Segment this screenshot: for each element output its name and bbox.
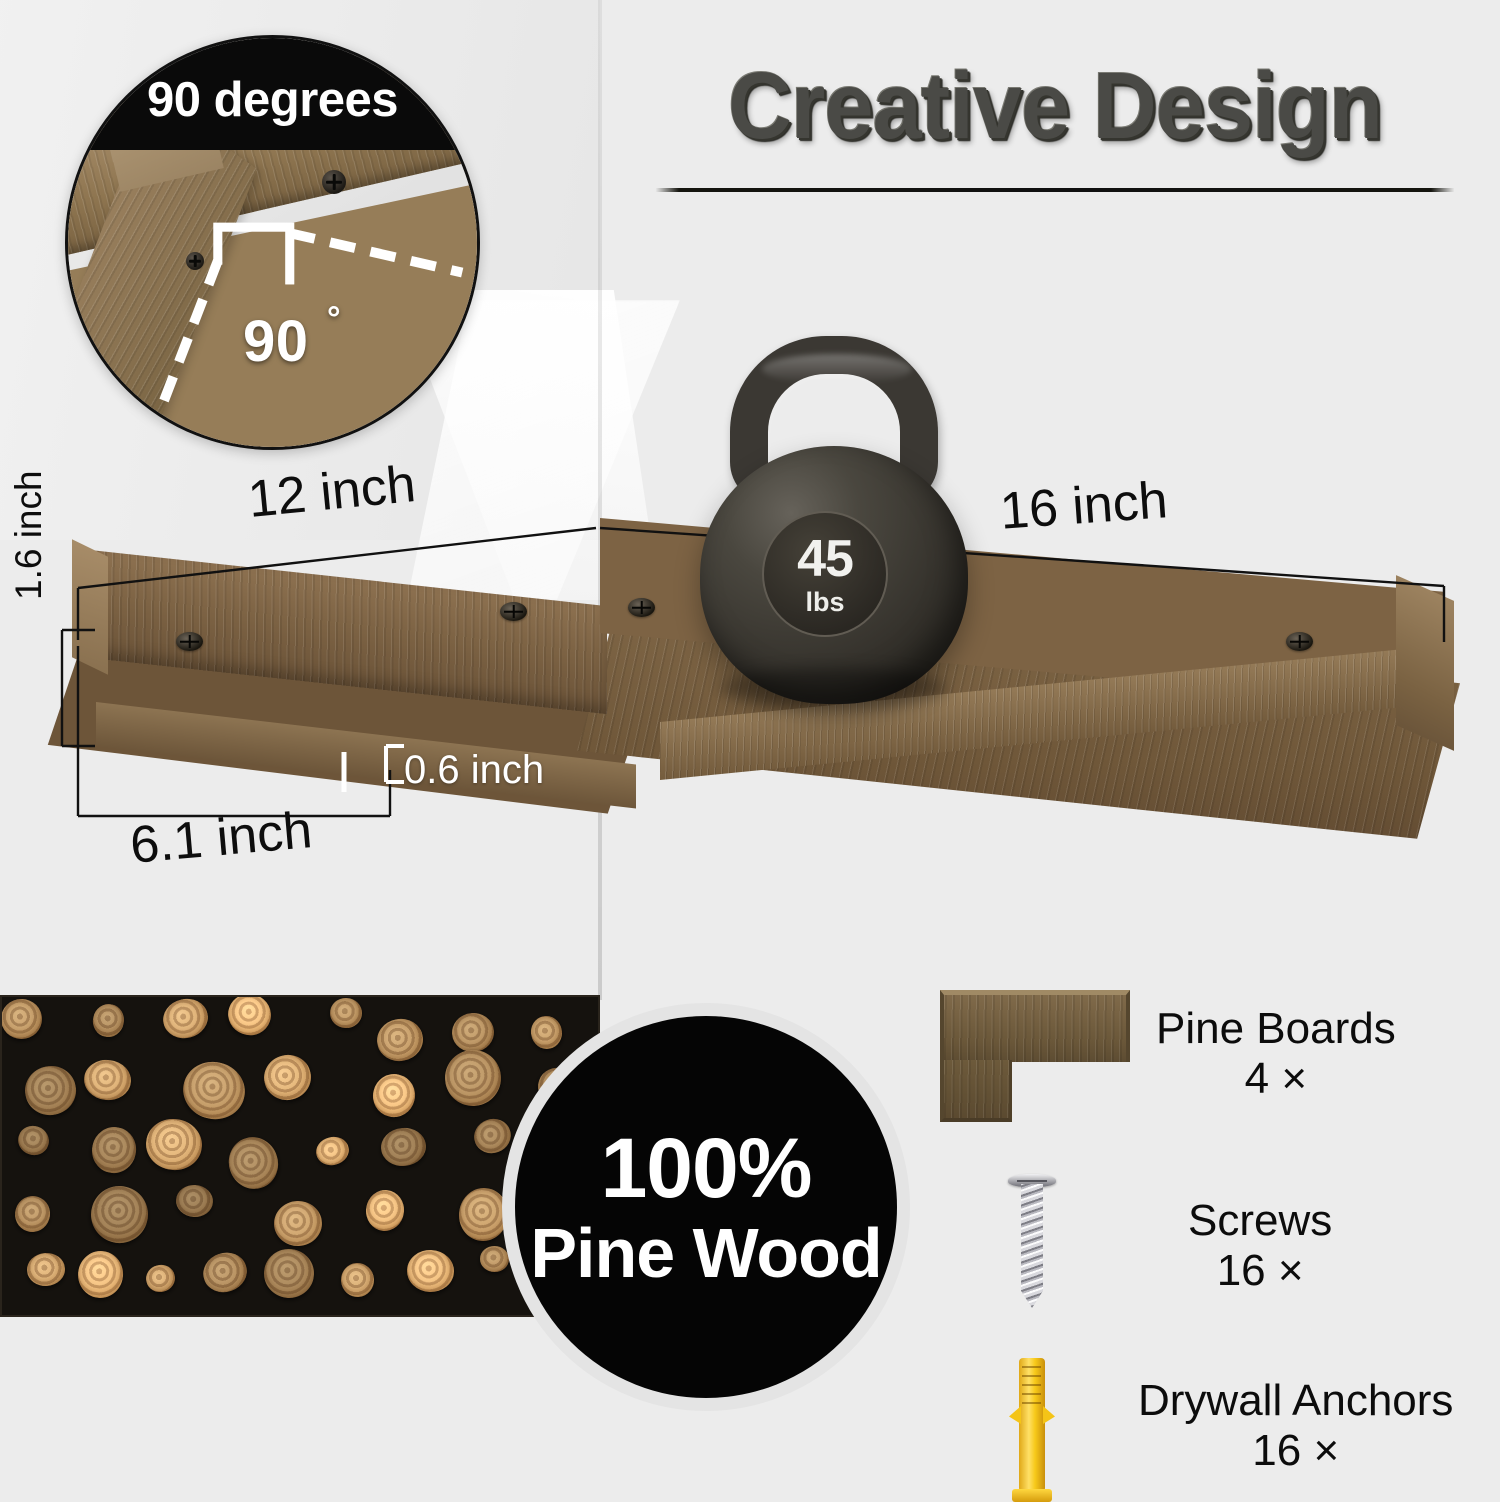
log-cross-section — [529, 1013, 565, 1051]
log-cross-section — [143, 1262, 177, 1295]
log-cross-section — [443, 1047, 504, 1108]
log-cross-section — [450, 1011, 496, 1054]
material-badge: 100% Pine Wood — [502, 1003, 910, 1411]
log-cross-section — [198, 1247, 252, 1298]
log-cross-section — [313, 1133, 352, 1168]
log-cross-section — [379, 1126, 427, 1168]
log-cross-section — [90, 1001, 126, 1039]
detail-zoom-circle: 90 ° 90 degrees — [65, 35, 480, 450]
dimension-label-thickness: 0.6 inch — [404, 748, 544, 793]
log-cross-section — [143, 1115, 205, 1173]
part-name: Screws — [1188, 1196, 1332, 1245]
log-cross-section — [363, 1188, 406, 1234]
pine-board-icon — [940, 990, 1130, 1120]
screw-icon — [962, 1172, 1102, 1322]
log-cross-section — [87, 1123, 139, 1177]
detail-banner: 90 degrees — [68, 38, 477, 150]
log-cross-section — [330, 997, 363, 1028]
log-cross-section — [82, 1057, 133, 1102]
kettlebell-weight-unit: lbs — [805, 589, 844, 616]
log-cross-section — [21, 1062, 81, 1119]
log-cross-section — [374, 1015, 426, 1064]
log-cross-section — [406, 1249, 455, 1293]
log-cross-section — [177, 1055, 250, 1125]
parts-list-item: Drywall Anchors 16 × — [940, 1352, 1500, 1502]
kettlebell-handle-highlight — [762, 354, 912, 384]
log-cross-section — [75, 1247, 127, 1301]
log-cross-section — [259, 1050, 316, 1105]
log-cross-section — [159, 995, 212, 1043]
log-cross-section — [85, 1180, 155, 1250]
kettlebell-weight-emblem: 45 lbs — [762, 511, 888, 637]
parts-list-item: Screws 16 × — [940, 1172, 1500, 1322]
part-quantity: 16 × — [1188, 1245, 1332, 1298]
kettlebell-weight-value: 45 — [797, 533, 853, 585]
log-cross-section — [11, 1192, 55, 1237]
degree-symbol-icon: ° — [327, 300, 341, 339]
log-cross-section — [14, 1122, 53, 1160]
log-cross-section — [1, 999, 42, 1040]
material-badge-material: Pine Wood — [530, 1217, 881, 1289]
part-quantity: 4 × — [1156, 1053, 1396, 1106]
log-cross-section — [261, 1246, 317, 1300]
log-cross-section — [25, 1252, 65, 1287]
detail-banner-label: 90 degrees — [147, 72, 398, 128]
page-title: Creative Design — [669, 58, 1441, 155]
drywall-anchor-icon — [962, 1352, 1102, 1502]
log-cross-section — [480, 1245, 510, 1271]
log-cross-section — [368, 1070, 419, 1122]
kettlebell-weight-prop: 45 lbs — [686, 336, 982, 708]
header: Creative Design — [640, 58, 1470, 192]
part-name: Drywall Anchors — [1138, 1376, 1453, 1425]
dimension-label-height: 1.6 inch — [8, 470, 50, 600]
log-cross-section — [339, 1261, 374, 1297]
parts-list: Pine Boards 4 × Screws 16 × — [940, 990, 1500, 1502]
parts-list-item: Pine Boards 4 × — [940, 990, 1500, 1120]
log-cross-section — [175, 1184, 214, 1218]
log-cross-section — [273, 1199, 324, 1247]
part-quantity: 16 × — [1138, 1425, 1453, 1478]
angle-value: 90 — [243, 308, 309, 375]
infographic-canvas: Creative Design 90 ° 90 degrees — [0, 0, 1500, 1500]
log-cross-section — [222, 1130, 285, 1195]
title-divider — [655, 188, 1455, 192]
log-cross-section — [222, 995, 276, 1041]
dimension-label-length-right: 16 inch — [998, 470, 1169, 542]
part-name: Pine Boards — [1156, 1004, 1396, 1053]
material-badge-percent: 100% — [601, 1125, 812, 1212]
